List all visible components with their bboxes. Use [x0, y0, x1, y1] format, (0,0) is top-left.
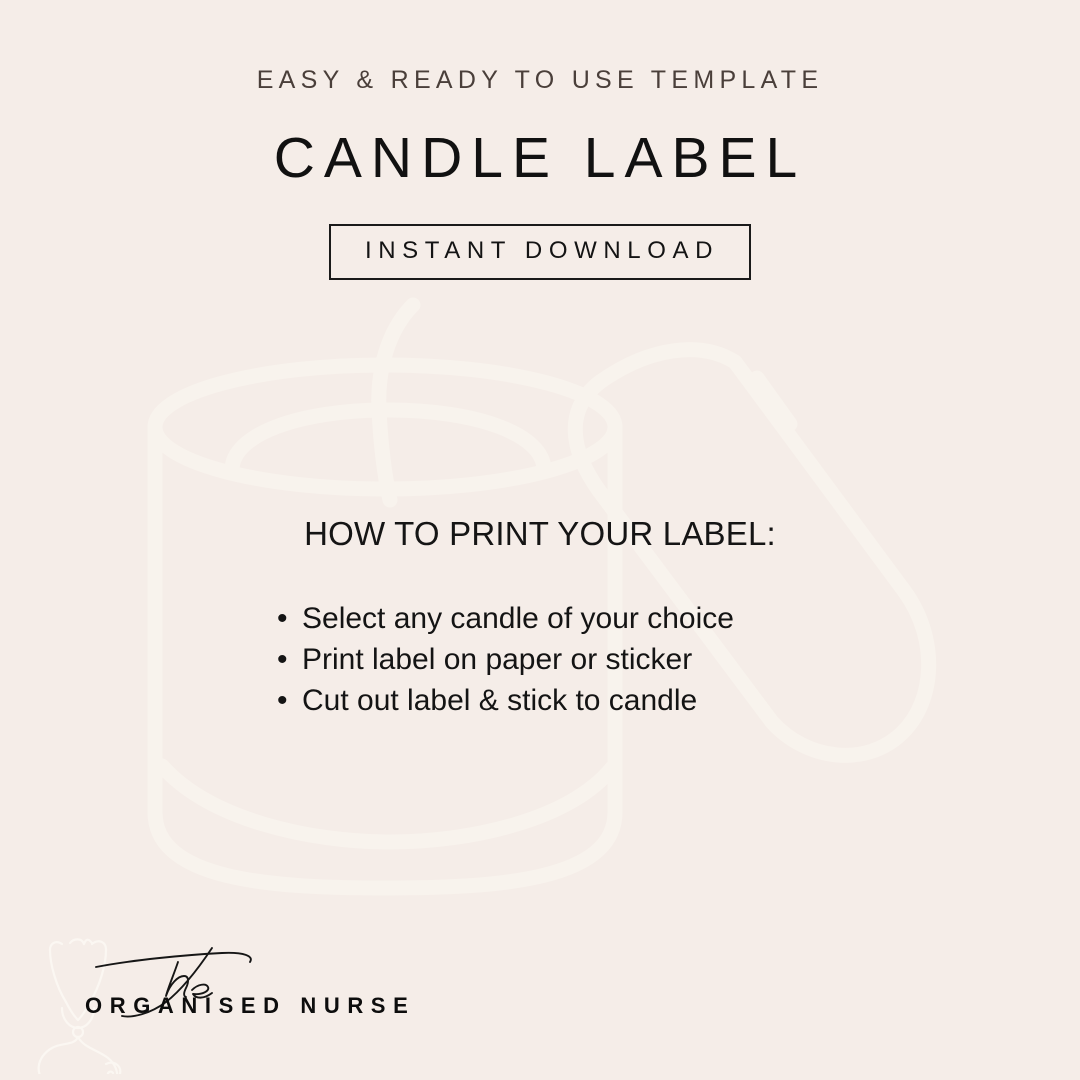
page-title: CANDLE LABEL — [0, 125, 1080, 191]
poster-canvas: EASY & READY TO USE TEMPLATE CANDLE LABE… — [0, 0, 1080, 1080]
list-item-label: Select any candle of your choice — [302, 602, 734, 635]
logo-wordmark: ORGANISED NURSE — [85, 993, 415, 1019]
bullet-icon: • — [277, 639, 288, 680]
bullet-icon: • — [277, 598, 288, 639]
list-item-label: Cut out label & stick to candle — [302, 684, 697, 717]
badge-container: INSTANT DOWNLOAD — [0, 224, 1080, 280]
bullet-icon: • — [277, 680, 288, 721]
instructions-list: • Select any candle of your choice • Pri… — [277, 598, 734, 721]
tagline: EASY & READY TO USE TEMPLATE — [0, 66, 1080, 95]
list-item: • Cut out label & stick to candle — [277, 680, 734, 721]
list-item: • Print label on paper or sticker — [277, 639, 734, 680]
instructions-heading: HOW TO PRINT YOUR LABEL: — [0, 515, 1080, 553]
instant-download-badge[interactable]: INSTANT DOWNLOAD — [329, 224, 751, 280]
list-item: • Select any candle of your choice — [277, 598, 734, 639]
list-item-label: Print label on paper or sticker — [302, 643, 692, 676]
